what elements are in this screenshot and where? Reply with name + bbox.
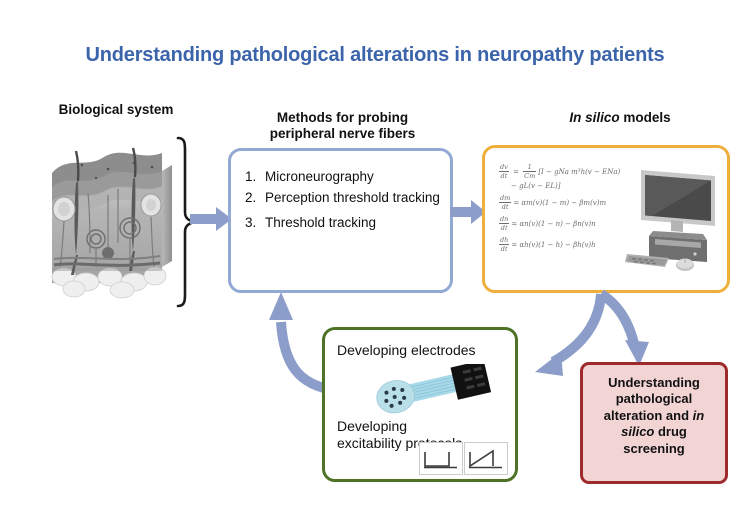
section-header-biological-system: Biological system	[16, 102, 216, 118]
eq-lhs-num: dv	[499, 164, 509, 171]
stimulus-waveform-icons	[419, 442, 509, 476]
eq-lhs-den: dt	[501, 204, 510, 211]
outcome-line3: alteration and	[604, 408, 693, 423]
equation-gate-h: dh dt = αh(v)(1 − h) − βh(v)h	[497, 237, 629, 252]
list-item-label: Perception threshold tracking	[265, 188, 442, 208]
eq-rhs-num: 1	[527, 164, 533, 171]
silico-header-italic: In silico	[569, 110, 619, 125]
outcome-italic-in: in	[693, 408, 705, 423]
eq-body: = αn(v)(1 − n) − βn(v)n	[511, 220, 595, 228]
methods-list: 1. Microneurography 2. Perception thresh…	[245, 167, 442, 234]
eq-lhs-den: dt	[500, 225, 509, 232]
list-item-label: Microneurography	[265, 167, 442, 187]
outcome-text: Understanding pathological alteration an…	[589, 375, 719, 457]
page-title: Understanding pathological alterations i…	[0, 44, 750, 67]
eq-body: [I − gNa m³h(v − ENa)	[538, 168, 620, 176]
methods-box: 1. Microneurography 2. Perception thresh…	[228, 148, 453, 293]
eq-lhs-num: dm	[499, 195, 511, 202]
skin-cross-section-icon	[38, 143, 178, 301]
equation-gate-n: dn dt = αn(v)(1 − n) − βn(v)n	[497, 216, 629, 231]
outcome-line1: Understanding	[608, 375, 700, 390]
development-box: Developing electrodes	[322, 327, 518, 482]
list-item-number: 3.	[245, 213, 265, 233]
flexible-electrode-array-icon	[367, 364, 492, 416]
hodgkin-huxley-equations: dv dt = 1 Cm [I − gNa m³h(v − ENa) − gL(…	[497, 164, 629, 258]
outcome-box: Understanding pathological alteration an…	[580, 362, 728, 484]
eq-lhs-den: dt	[500, 173, 509, 180]
eq-lhs-num: dh	[499, 237, 509, 244]
list-item: 2. Perception threshold tracking	[245, 188, 442, 208]
outcome-line4-rest: drug	[654, 424, 687, 439]
eq-lhs-num: dn	[499, 216, 509, 223]
outcome-italic-silico: silico	[621, 424, 654, 439]
methods-header-line2: peripheral nerve fibers	[240, 126, 445, 142]
list-item-number: 1.	[245, 167, 265, 187]
eq-body: = αh(v)(1 − h) − βh(v)h	[511, 241, 595, 249]
eq-body: = αm(v)(1 − m) − βm(v)m	[513, 199, 606, 207]
list-item: 1. Microneurography	[245, 167, 442, 187]
desktop-computer-icon	[625, 166, 725, 278]
equation-gate-m: dm dt = αm(v)(1 − m) − βm(v)m	[497, 195, 629, 210]
equation-membrane-voltage: dv dt = 1 Cm [I − gNa m³h(v − ENa)	[497, 164, 629, 179]
methods-header-line1: Methods for probing	[240, 110, 445, 126]
list-item-number: 2.	[245, 188, 265, 208]
diagram-canvas: Understanding pathological alterations i…	[0, 0, 750, 525]
label-developing-electrodes: Developing electrodes	[337, 342, 476, 358]
list-item-label: Threshold tracking	[265, 213, 442, 233]
section-header-in-silico: In silico models	[520, 110, 720, 126]
in-silico-box: dv dt = 1 Cm [I − gNa m³h(v − ENa) − gL(…	[482, 145, 730, 293]
eq-rhs-den: Cm	[523, 173, 536, 180]
section-header-methods: Methods for probing peripheral nerve fib…	[240, 110, 445, 143]
outcome-line5: screening	[623, 441, 684, 456]
eq-lhs-den: dt	[500, 246, 509, 253]
outcome-line2: pathological	[616, 391, 693, 406]
list-item: 3. Threshold tracking	[245, 213, 442, 233]
equation-membrane-voltage-cont: − gL(v − EL)]	[511, 182, 629, 190]
silico-header-rest: models	[620, 110, 671, 125]
